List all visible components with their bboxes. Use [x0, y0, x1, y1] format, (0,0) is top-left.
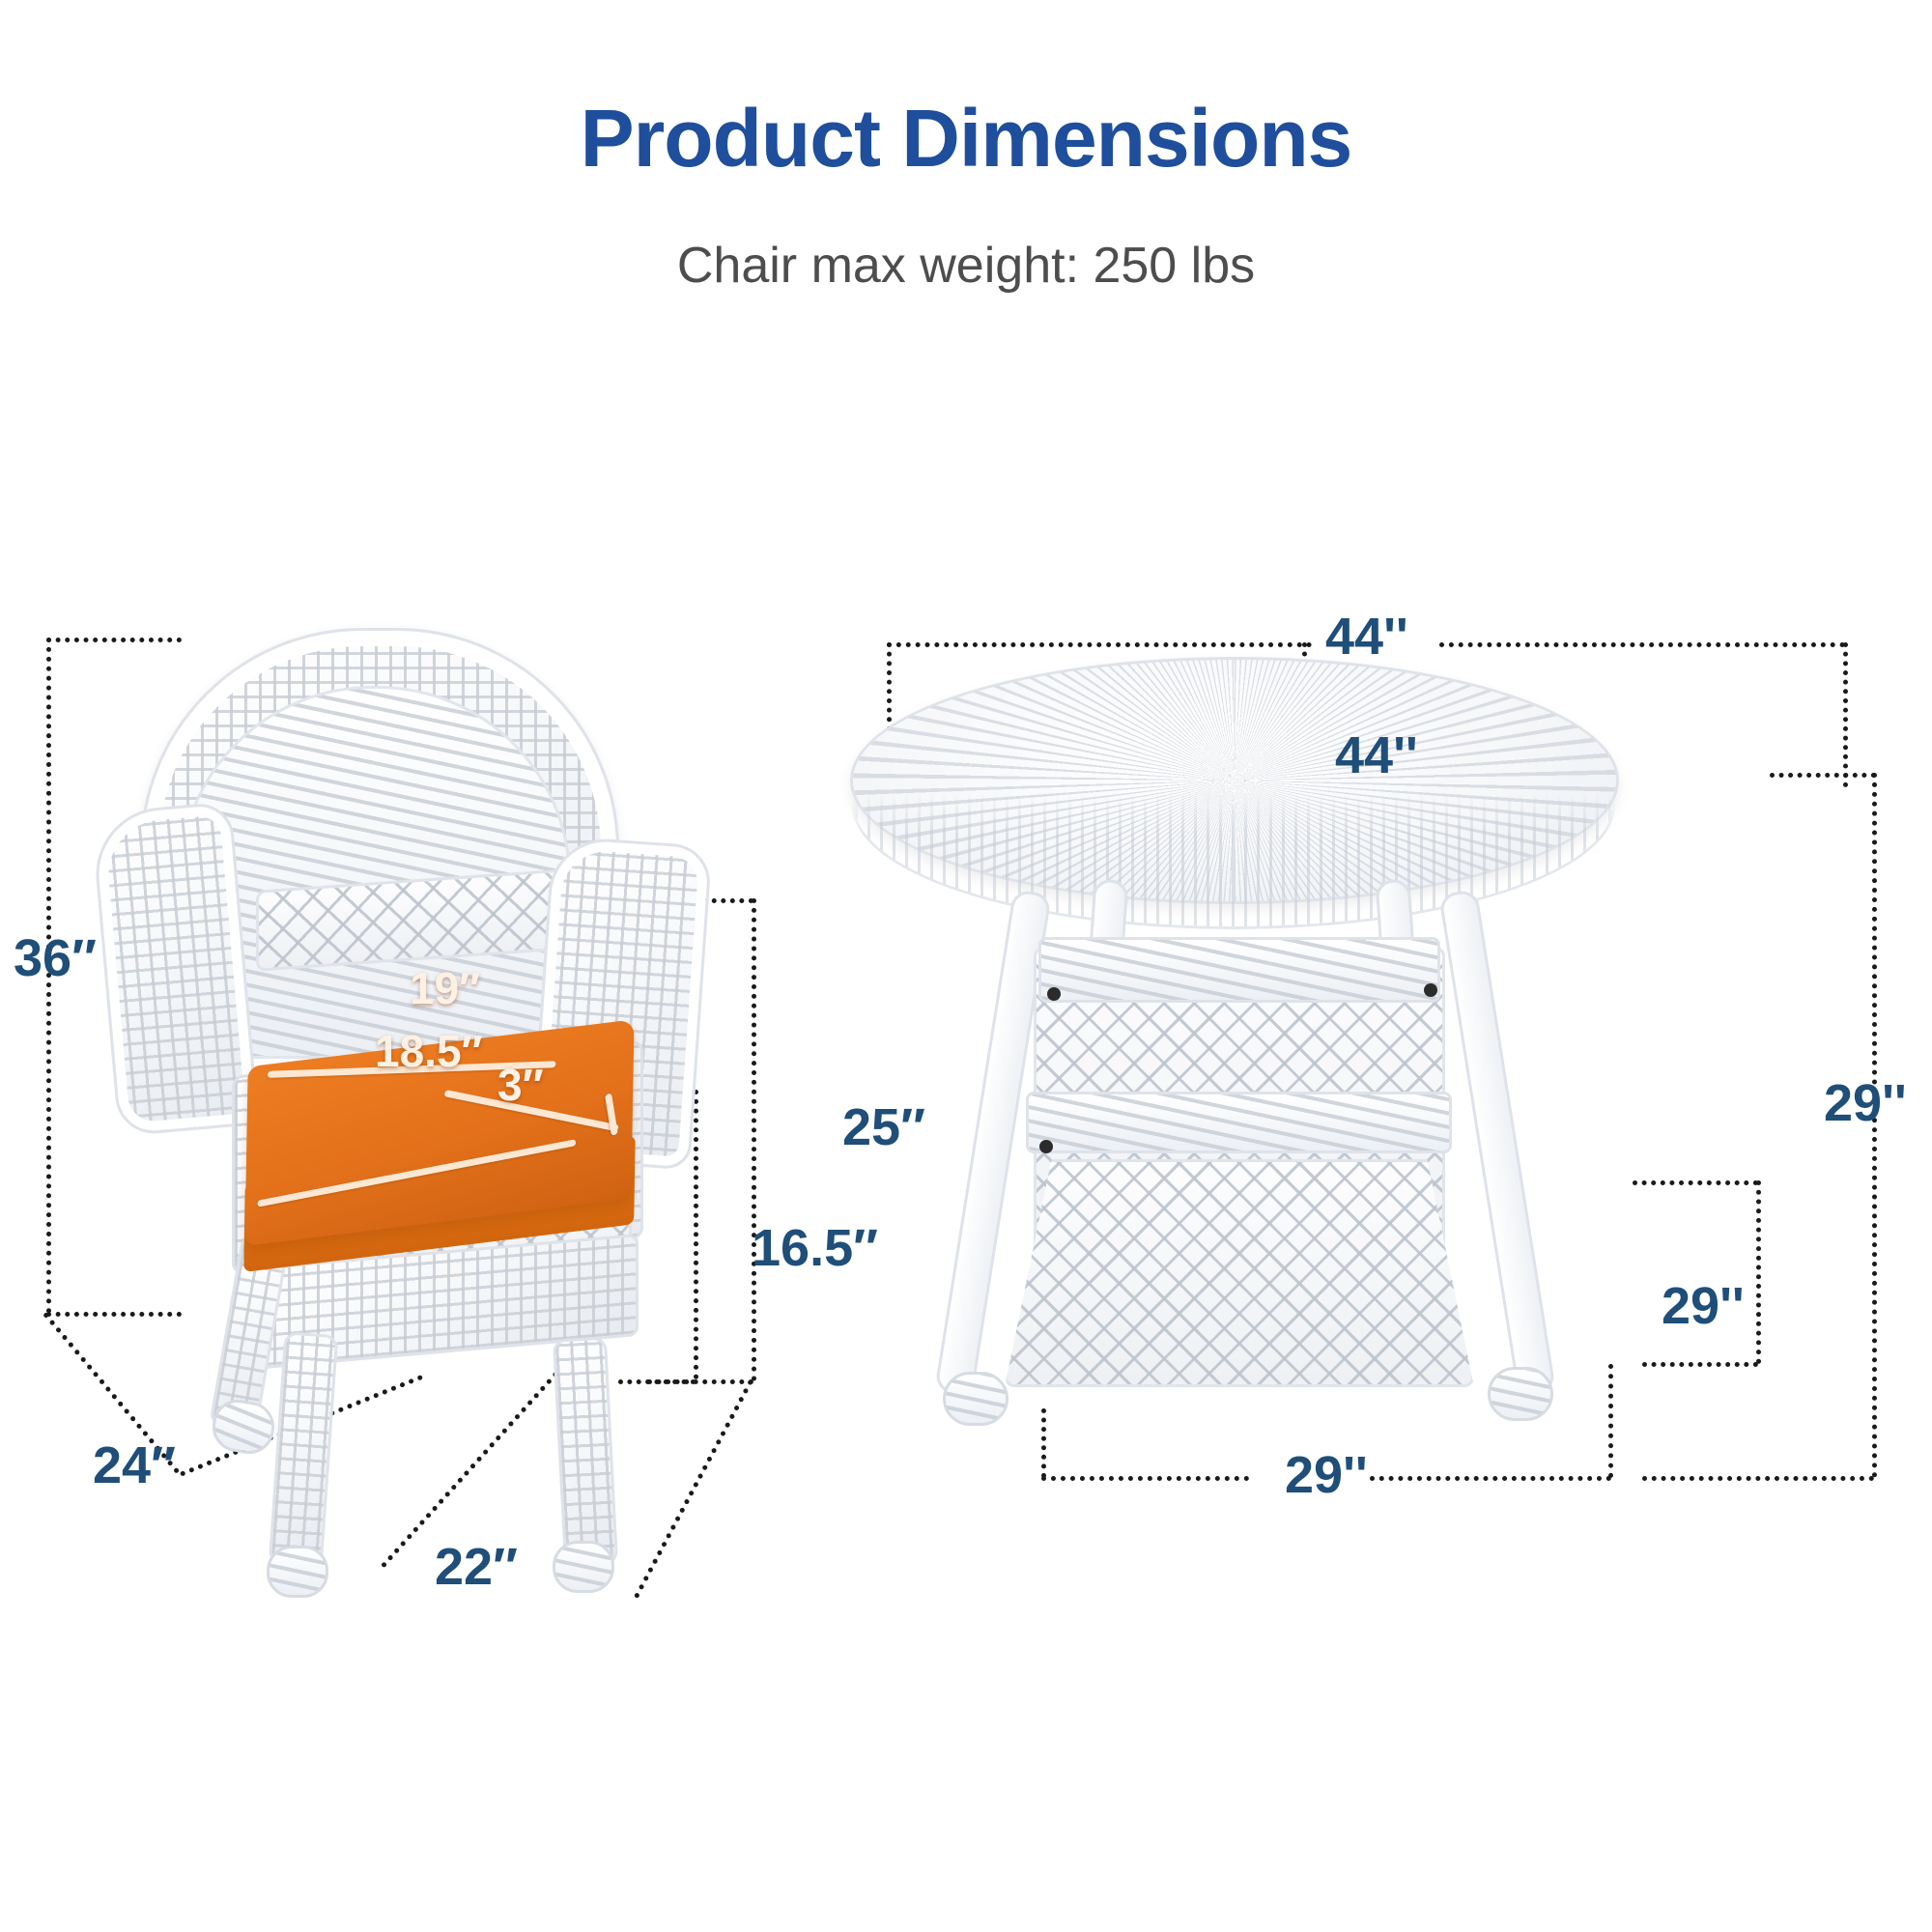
table-base-width-guide-left-seg [1041, 1476, 1249, 1481]
table-top-edge [852, 682, 1615, 929]
table-dim-width-29: 29'' [1285, 1449, 1368, 1501]
chair-cushion-dim-3: 3″ [497, 1063, 544, 1107]
table-base-guide-vertical [1756, 1180, 1761, 1364]
table-dim-height-29: 29'' [1824, 1077, 1907, 1129]
page-title: Product Dimensions [0, 92, 1932, 185]
product-dimensions-diagram: Product Dimensions Chair max weight: 250… [0, 0, 1932, 1932]
table-foot-right [1488, 1367, 1553, 1421]
table-base-skirt [1005, 1159, 1474, 1387]
table-screw-1 [1047, 987, 1061, 1001]
table-top-guide-right-vertical [1843, 642, 1848, 787]
chair-dim-width-22: 22″ [435, 1541, 518, 1593]
table-base-guide-top [1633, 1180, 1758, 1185]
chair-foot-front-left [267, 1546, 328, 1598]
table-screw-2 [1424, 983, 1437, 997]
cushion-width-line [257, 1139, 576, 1207]
table-foot-left [943, 1372, 1009, 1426]
table-illustration [850, 638, 1642, 1449]
table-height-guide-bottom [1642, 1476, 1874, 1481]
table-dim-base-29: 29'' [1662, 1280, 1745, 1332]
chair-dim-depth-24: 24″ [93, 1439, 176, 1492]
table-base-width-guide-right-seg [1370, 1476, 1611, 1481]
page-subtitle-max-weight: Chair max weight: 250 lbs [0, 237, 1932, 295]
chair-foot-front-right [553, 1541, 614, 1593]
chair-cushion-dim-18-5: 18.5″ [375, 1029, 483, 1073]
chair-dim-height-36: 36″ [14, 932, 97, 984]
table-screw-3 [1039, 1140, 1053, 1153]
table-height-guide-top [1770, 773, 1876, 778]
table-dim-top-44: 44'' [1325, 611, 1408, 663]
table-lower-band [1026, 1092, 1452, 1153]
chair-leg-front-right [553, 1337, 618, 1568]
table-upper-band [1038, 937, 1440, 1003]
chair-cushion-dim-19: 19″ [410, 966, 480, 1010]
chair-floor-guide-right [634, 1379, 753, 1599]
table-dim-center-44: 44'' [1335, 729, 1418, 781]
table-base-guide-bottom [1642, 1362, 1758, 1367]
